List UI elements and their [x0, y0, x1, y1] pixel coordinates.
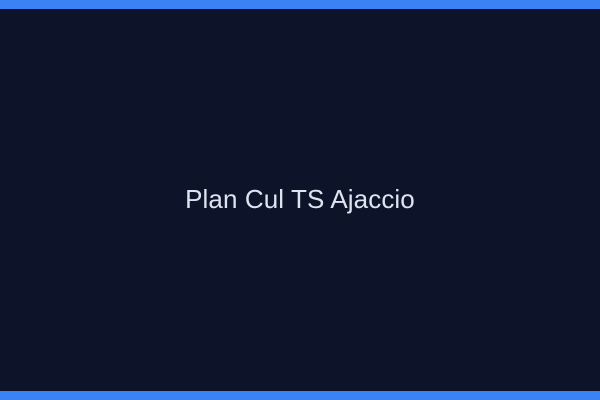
placeholder-card: Plan Cul TS Ajaccio	[0, 0, 600, 400]
card-body: Plan Cul TS Ajaccio	[0, 9, 600, 391]
bottom-accent-bar	[0, 391, 600, 400]
page-title: Plan Cul TS Ajaccio	[161, 184, 439, 215]
top-accent-bar	[0, 0, 600, 9]
